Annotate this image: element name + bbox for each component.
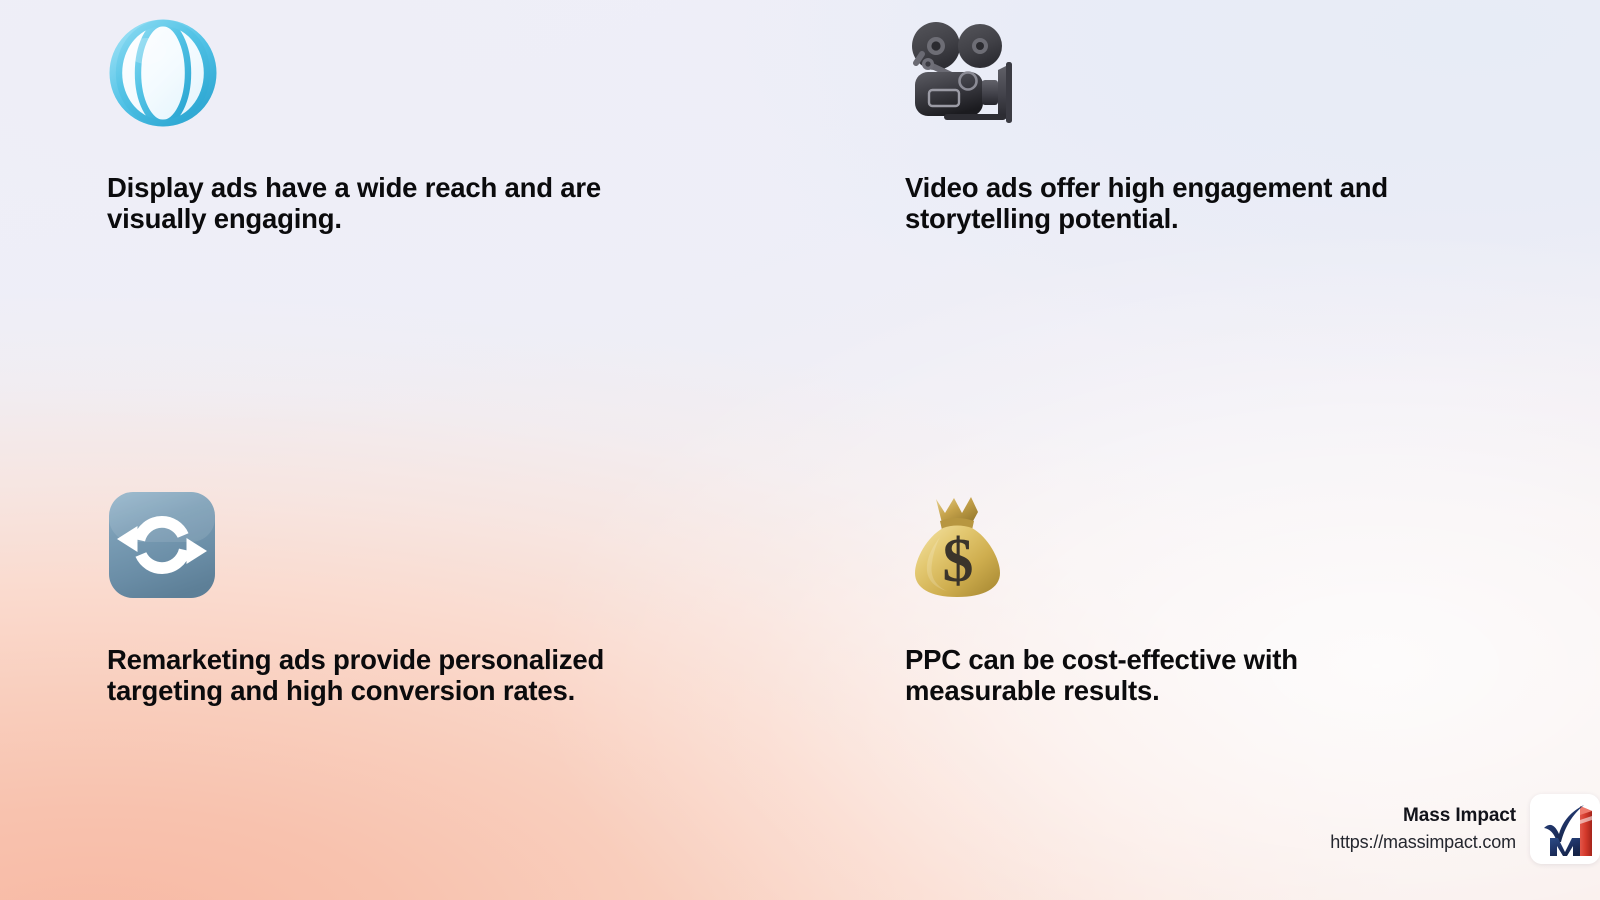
- card-remarketing-ads: Remarketing ads provide personalized tar…: [0, 450, 800, 900]
- brand-text: Mass Impact https://massimpact.com: [1330, 804, 1516, 853]
- infographic-canvas: Display ads have a wide reach and are vi…: [0, 0, 1600, 900]
- counterclockwise-arrows-button-icon: [107, 490, 219, 602]
- card-display-ads: Display ads have a wide reach and are vi…: [0, 0, 800, 450]
- card-caption: Display ads have a wide reach and are vi…: [107, 172, 667, 234]
- card-caption: PPC can be cost-effective with measurabl…: [905, 644, 1375, 706]
- cards-grid: Display ads have a wide reach and are vi…: [0, 0, 1600, 900]
- card-caption: Remarketing ads provide personalized tar…: [107, 644, 667, 706]
- mass-impact-logo[interactable]: [1530, 794, 1600, 864]
- card-caption: Video ads offer high engagement and stor…: [905, 172, 1450, 234]
- brand-name: Mass Impact: [1330, 804, 1516, 828]
- brand-block[interactable]: Mass Impact https://massimpact.com: [1330, 794, 1600, 864]
- svg-text:$: $: [943, 527, 974, 595]
- movie-camera-icon: [905, 18, 1017, 130]
- money-bag-icon: $: [905, 490, 1017, 602]
- globe-with-meridians-icon: [107, 18, 219, 130]
- brand-url[interactable]: https://massimpact.com: [1330, 831, 1516, 854]
- card-video-ads: Video ads offer high engagement and stor…: [800, 0, 1600, 450]
